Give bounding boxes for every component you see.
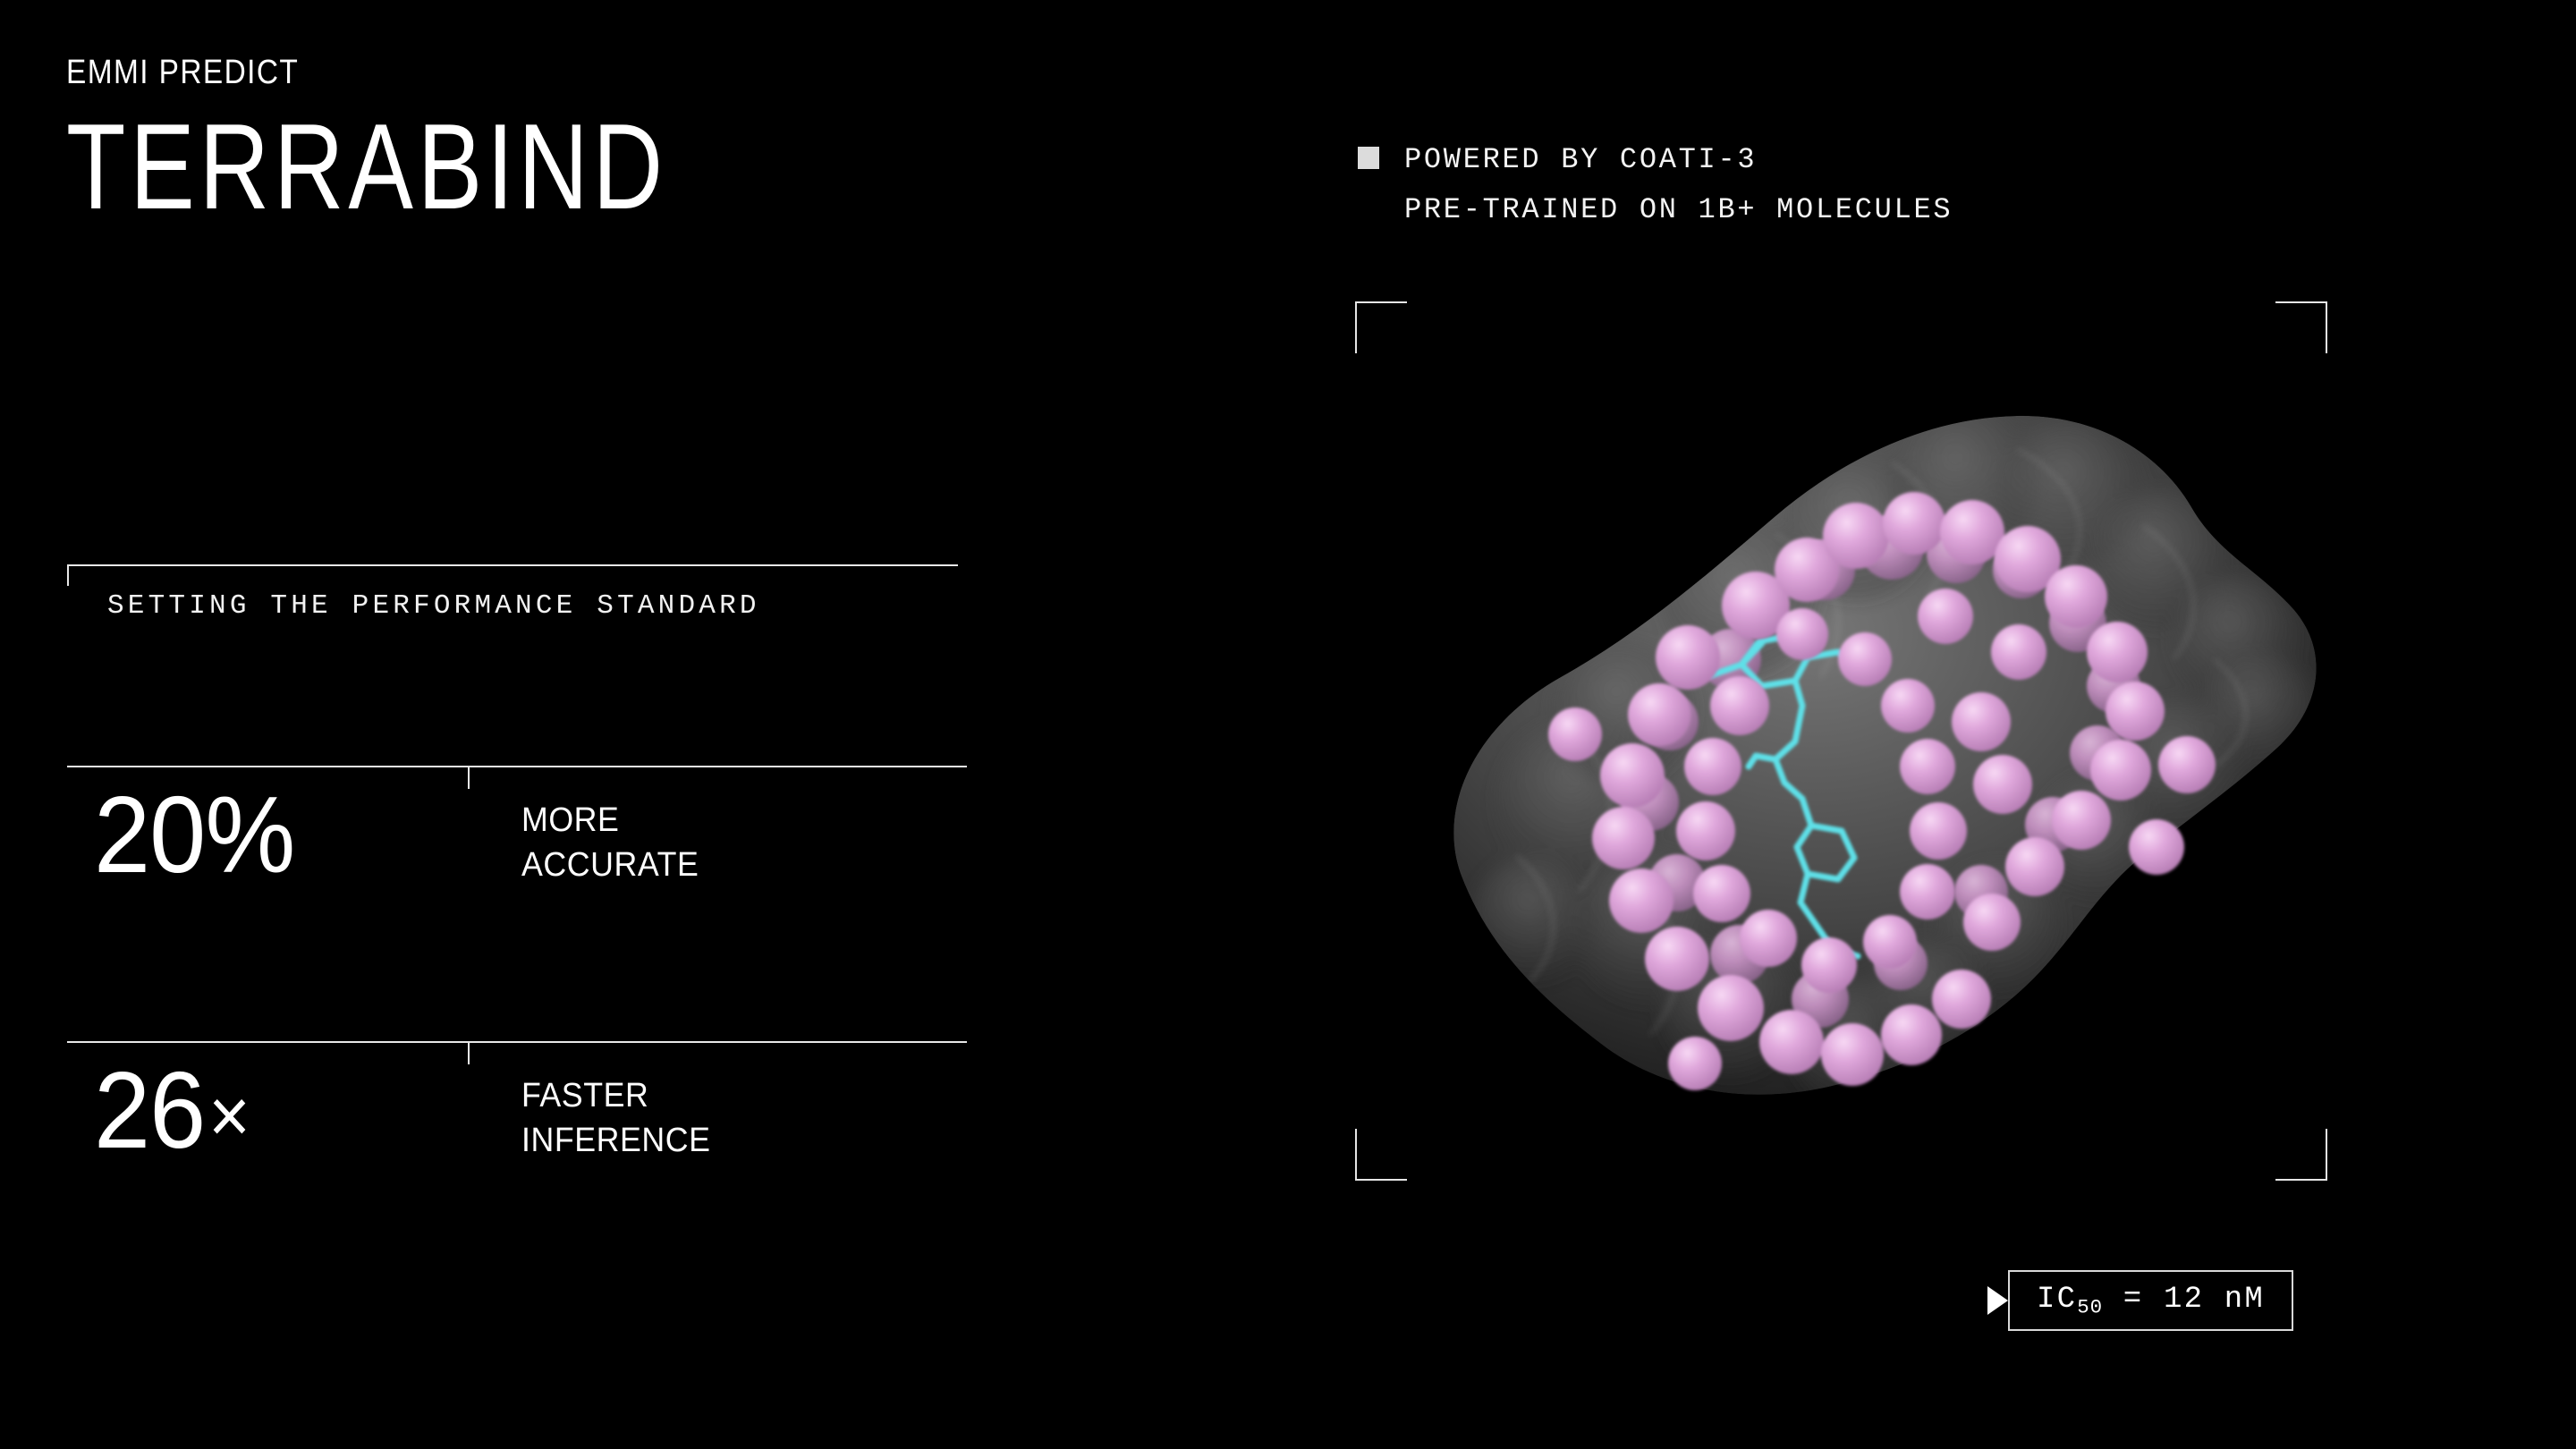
ic50-subscript: 50 [2077,1295,2103,1318]
stat-divider-2 [67,1041,967,1043]
stat-value-speed: 26× [94,1055,250,1165]
triangle-pointer-icon [1987,1286,2008,1315]
section-rule [67,564,958,566]
page-title: TERRABIND [66,106,667,227]
stat-number-speed: 26 [94,1049,205,1171]
brand-eyebrow: EMMI PREDICT [66,55,299,89]
stat-accuracy: 20% MORE ACCURATE [67,780,970,941]
ic50-amount: 12 [2164,1283,2204,1317]
ic50-metric: IC [2037,1283,2077,1317]
model-badge-line-1: POWERED BY COATI-3 [1404,146,1757,174]
stat-label-accuracy: MORE ACCURATE [521,798,699,887]
molecule-viewport[interactable] [1355,301,2327,1181]
stat-unit-speed: × [208,1073,250,1159]
stat-speed: 26× FASTER INFERENCE [67,1055,970,1216]
ic50-value: IC50 = 12 nM [2037,1283,2265,1318]
rule-end-tick [67,564,69,586]
ic50-unit: nM [2224,1283,2265,1317]
section-label: SETTING THE PERFORMANCE STANDARD [107,592,760,620]
slide-canvas: EMMI PREDICT TERRABIND SETTING THE PERFO… [0,0,2576,1449]
stat-label-speed: FASTER INFERENCE [521,1073,710,1163]
stat-divider-1 [67,766,967,767]
ic50-box: IC50 = 12 nM [2008,1270,2293,1331]
protein-ligand-render [1355,301,2327,1181]
stat-value-accuracy: 20% [94,780,294,889]
square-marker-icon [1358,147,1379,169]
ic50-readout[interactable]: IC50 = 12 nM [1987,1268,2293,1333]
ic50-equals: = [2103,1283,2164,1317]
model-badge-line-2: PRE-TRAINED ON 1B+ MOLECULES [1404,196,1953,225]
